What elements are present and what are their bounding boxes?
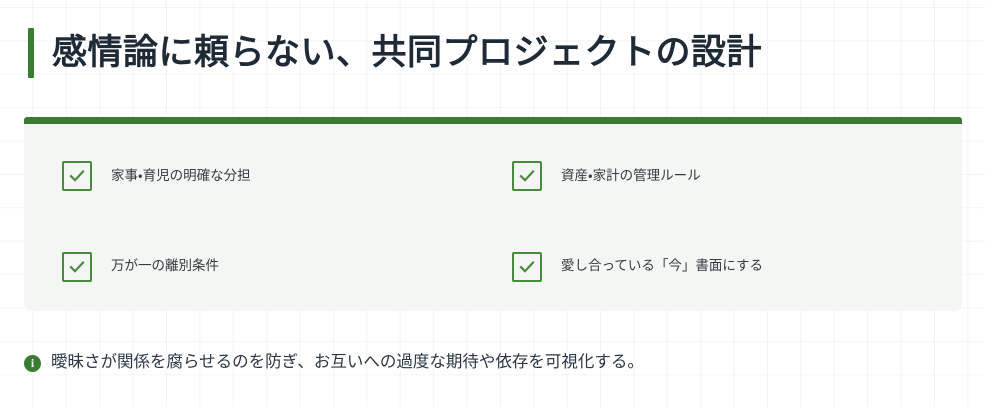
title-accent-bar-icon (28, 28, 34, 78)
check-icon (518, 258, 536, 276)
check-icon (68, 258, 86, 276)
info-icon: i (24, 355, 41, 372)
checkbox-checked[interactable] (62, 161, 92, 191)
check-icon (518, 167, 536, 185)
list-item-label: 家事・育児の明確な分担 (111, 167, 251, 186)
checkbox-checked[interactable] (512, 161, 542, 191)
list-item[interactable]: 資産・家計の管理ルール (512, 160, 962, 192)
list-item-label: 万が一の離別条件 (111, 257, 219, 276)
footer-note: i 曖昧さが関係を腐らせるのを防ぎ、お互いへの過度な期待や依存を可視化する。 (24, 349, 644, 377)
list-item[interactable]: 愛し合っている「今」書面にする (512, 251, 962, 283)
list-item[interactable]: 万が一の離別条件 (62, 251, 512, 283)
checklist-grid: 家事・育児の明確な分担 資産・家計の管理ルール 万が一の離別条件 (24, 124, 962, 311)
checklist-card: 家事・育児の明確な分担 資産・家計の管理ルール 万が一の離別条件 (24, 117, 962, 311)
page-title-text: 感情論に頼らない、共同プロジェクトの設計 (52, 33, 762, 73)
page-title: 感情論に頼らない、共同プロジェクトの設計 (28, 25, 762, 81)
list-item[interactable]: 家事・育児の明確な分担 (62, 160, 512, 192)
checkbox-checked[interactable] (62, 252, 92, 282)
list-item-label: 愛し合っている「今」書面にする (561, 257, 763, 276)
footer-note-text: 曖昧さが関係を腐らせるのを防ぎ、お互いへの過度な期待や依存を可視化する。 (51, 352, 644, 373)
list-item-label: 資産・家計の管理ルール (561, 167, 701, 186)
check-icon (68, 167, 86, 185)
slide-canvas: 感情論に頼らない、共同プロジェクトの設計 家事・育児の明確な分担 資産・家計の管 (0, 0, 985, 407)
checkbox-checked[interactable] (512, 252, 542, 282)
